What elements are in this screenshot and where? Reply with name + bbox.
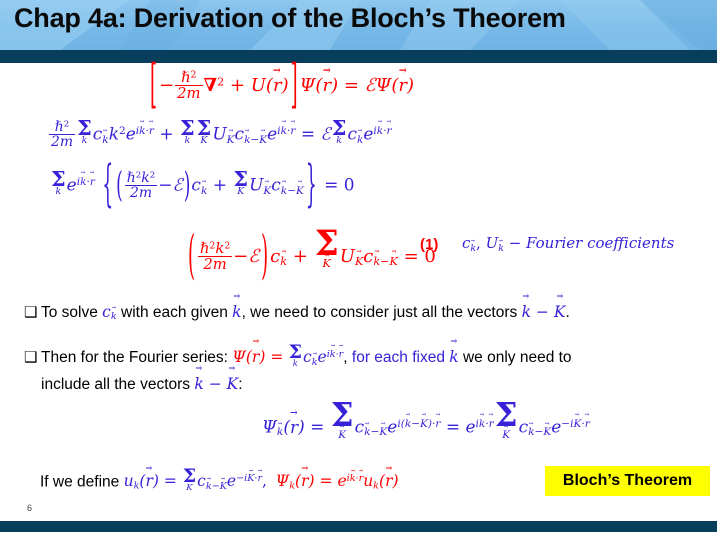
slide-canvas: Chap 4a: Derivation of the Bloch’s Theor…: [0, 0, 717, 539]
fourier-coefficients-note: ck, Uk − Fourier coefficients: [462, 234, 674, 254]
bullet-item-fourier-series: ❑Then for the Fourier series: Ψ(r) = Σkc…: [24, 344, 704, 397]
bloch-theorem-callout: Bloch’s Theorem: [545, 466, 710, 496]
equation-expanded-sum: ℏ22mΣkckk2eik·r + ΣkΣKUKck−Keik·r = ℰΣkc…: [48, 119, 392, 150]
equation-number-label: (1): [420, 236, 438, 253]
bullet-item-solve-ck: ❑To solve ck with each given k, we need …: [24, 299, 704, 325]
bullet-text-2: Then for the Fourier series: Ψ(r) = Σkck…: [24, 349, 704, 396]
title-banner: Chap 4a: Derivation of the Bloch’s Theor…: [0, 0, 717, 50]
page-title: Chap 4a: Derivation of the Bloch’s Theor…: [14, 3, 714, 34]
equation-schrodinger: [−ℏ22m∇2 + U(r)]Ψ(r) = ℰΨ(r): [148, 70, 414, 101]
u-function-definition: uk(r) = ΣKck−Ke−iK·r,: [124, 472, 267, 490]
bullet-text: To solve ck with each given k, we need t…: [41, 304, 570, 321]
footer-bar: [0, 521, 717, 532]
bloch-theorem-definition-line: If we define uk(r) = ΣKck−Ke−iK·r, Ψk(r)…: [40, 468, 399, 493]
slide-number: 6: [27, 503, 32, 513]
bullet-marker-icon-2: ❑: [24, 346, 41, 369]
bullet-marker-icon: ❑: [24, 301, 41, 324]
bloch-theorem-equation: Ψk(r) = eik·ruk(r): [276, 472, 399, 490]
equation-bloch-wavefunction: Ψk(r) = ΣKck−Kei(k−K)·r = eik·rΣKck−Ke−i…: [262, 400, 590, 440]
final-line-lead: If we define: [40, 473, 124, 490]
equation-factored-sum: Σkeik·r {(ℏ2k22m−ℰ)ck + ΣKUKck−K} = 0: [50, 170, 355, 201]
equation-central-equation: (ℏ2k22m−ℰ)ck + ΣKUKck−K = 0: [186, 228, 436, 272]
title-underbar: [0, 50, 717, 63]
